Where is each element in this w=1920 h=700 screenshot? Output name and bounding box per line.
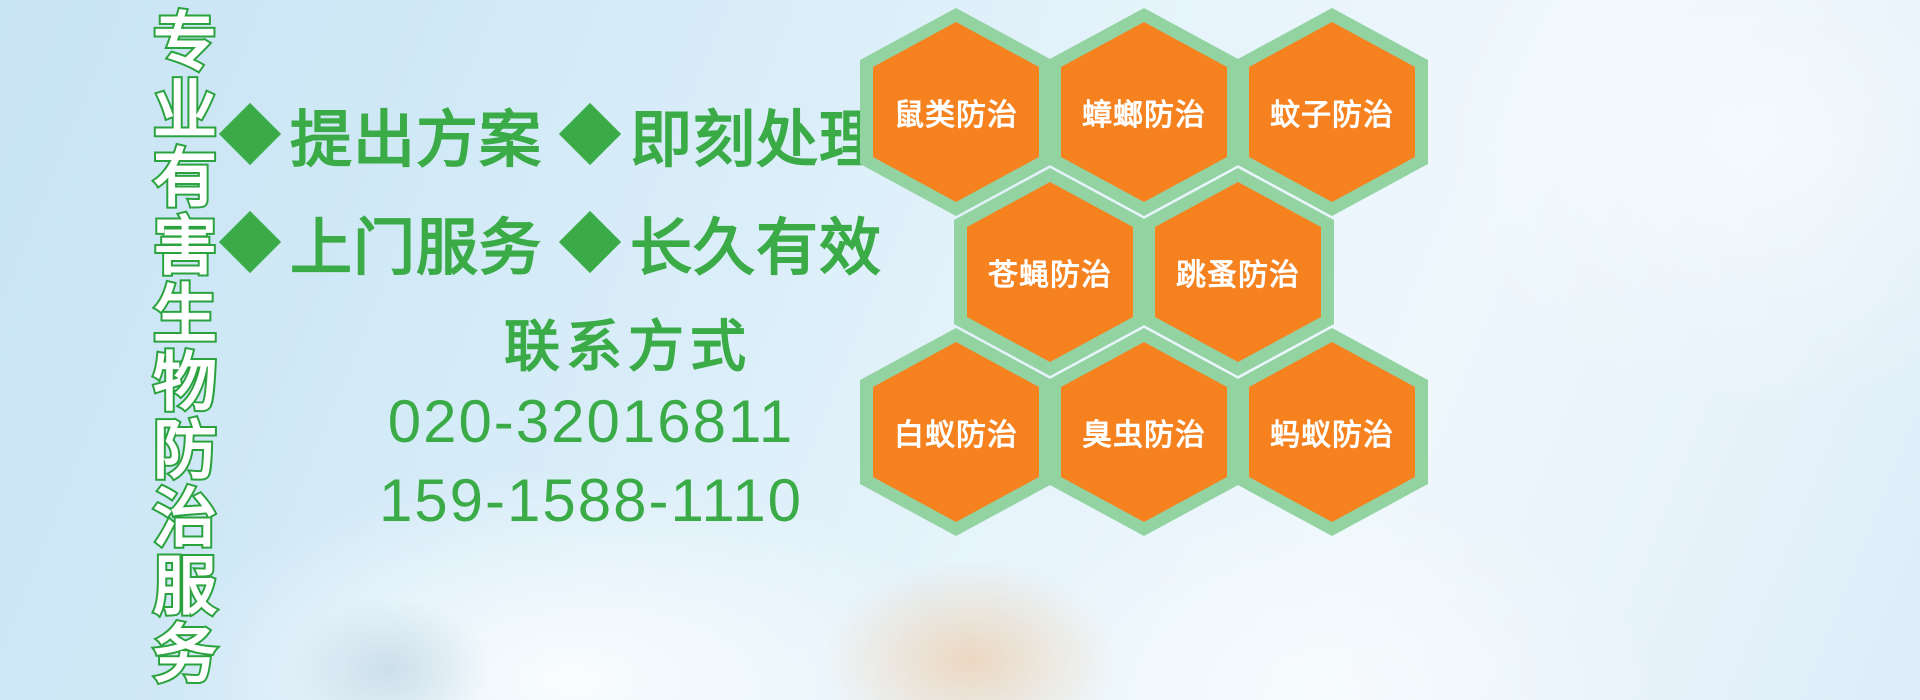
service-hex-ant[interactable]: 蚂蚁防治: [1236, 328, 1428, 536]
service-label: 白蚁防治: [860, 410, 1052, 454]
background-glow-top-right: [1450, 0, 1920, 400]
feature-label-propose-plan: 提出方案: [290, 89, 542, 179]
background-glow-orange: [820, 560, 1120, 700]
feature-label-onsite-service: 上门服务: [290, 197, 542, 287]
feature-label-long-lasting: 长久有效: [630, 197, 882, 287]
vertical-headline: 专业有害生物防治服务: [108, 8, 212, 568]
service-label: 蟑螂防治: [1048, 90, 1240, 134]
phone-mobile[interactable]: 159-1588-1110: [314, 461, 868, 540]
service-label: 蚊子防治: [1236, 90, 1428, 134]
service-label: 臭虫防治: [1048, 410, 1240, 454]
service-row-bottom: 白蚁防治 臭虫防治 蚂蚁防治: [860, 328, 1424, 536]
service-label: 苍蝇防治: [954, 250, 1146, 294]
feature-row-2: 上门服务 长久有效: [228, 188, 868, 296]
diamond-bullet-icon: [559, 211, 621, 273]
service-label: 蚂蚁防治: [1236, 410, 1428, 454]
diamond-bullet-icon: [559, 103, 621, 165]
service-hex-bedbug[interactable]: 臭虫防治: [1048, 328, 1240, 536]
service-label: 鼠类防治: [860, 90, 1052, 134]
phone-landline[interactable]: 020-32016811: [314, 382, 868, 461]
diamond-bullet-icon: [219, 103, 281, 165]
feature-list: 提出方案 即刻处理 上门服务 长久有效: [228, 80, 868, 296]
pest-control-banner: 专业有害生物防治服务 提出方案 即刻处理 上门服务 长久有效 联系方式 020-…: [0, 0, 1920, 700]
service-honeycomb: 鼠类防治 蟑螂防治 蚊子防治 苍蝇防治 跳蚤防治: [860, 0, 1460, 545]
service-hex-termite[interactable]: 白蚁防治: [860, 328, 1052, 536]
diamond-bullet-icon: [219, 211, 281, 273]
service-label: 跳蚤防治: [1142, 250, 1334, 294]
feature-row-1: 提出方案 即刻处理: [228, 80, 868, 188]
background-glow-grey: [290, 600, 490, 700]
contact-title: 联系方式: [388, 312, 868, 382]
feature-label-immediate-handling: 即刻处理: [630, 89, 882, 179]
contact-block: 联系方式 020-32016811 159-1588-1110: [228, 312, 868, 540]
